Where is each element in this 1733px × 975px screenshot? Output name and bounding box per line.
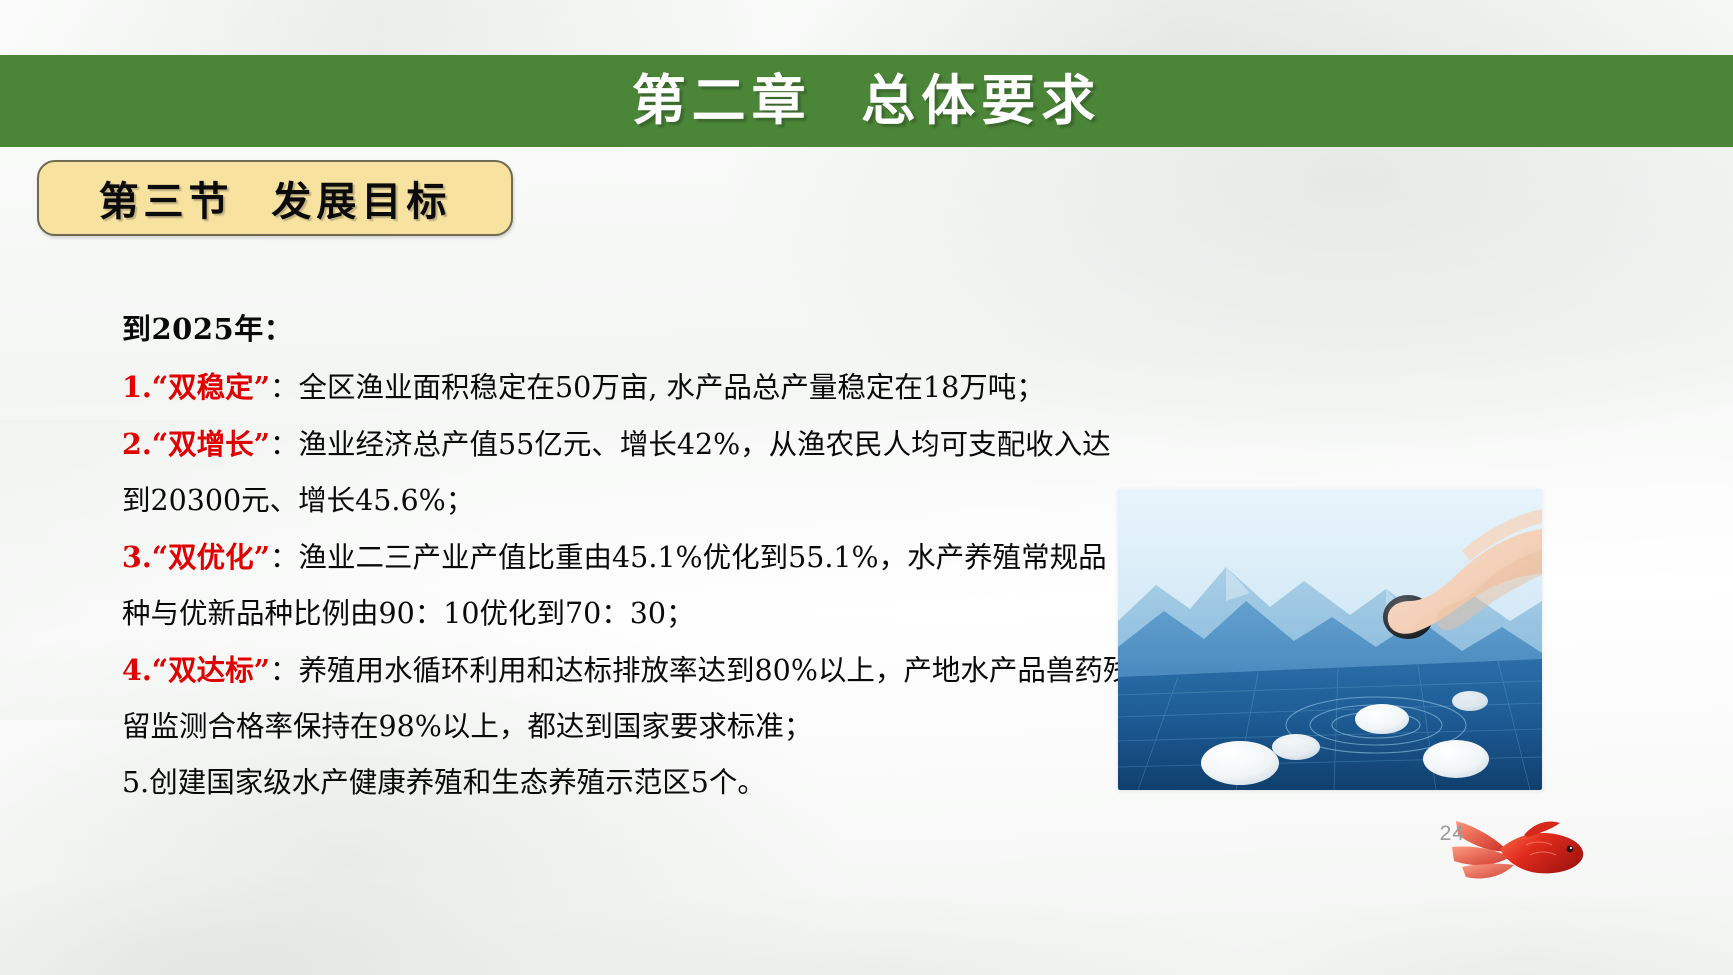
slide-canvas: 第二章 总体要求 第三节 发展目标 到2025年： 1.“双稳定”：全区渔业面积… [0,0,1733,975]
goal-item-2: 2.“双增长”：渔业经济总产值55亿元、增长42%，从渔农民人均可支配收入达到2… [122,416,1132,529]
section-title-chip: 第三节 发展目标 [37,160,513,236]
goal-item-3: 3.“双优化”：渔业二三产业产值比重由45.1%优化到55.1%，水产养殖常规品… [122,529,1132,642]
goal-item-1: 1.“双稳定”：全区渔业面积稳定在50万亩, 水产品总产量稳定在18万吨； [122,359,1132,416]
goal-item-2-text: ：渔业经济总产值55亿元、增长42%，从渔农民人均可支配收入达到20300元、增… [122,428,1111,517]
goal-item-3-text: ：渔业二三产业产值比重由45.1%优化到55.1%，水产养殖常规品种与优新品种比… [122,541,1107,630]
goal-item-5: 5.创建国家级水产健康养殖和生态养殖示范区5个。 [122,755,1132,811]
goal-item-5-tag: 5. [122,766,149,799]
goal-item-4-tag: 4.“双达标” [122,653,270,687]
goal-item-1-text: ：全区渔业面积稳定在50万亩, 水产品总产量稳定在18万吨； [270,371,1045,404]
goal-item-3-tag: 3.“双优化” [122,540,270,574]
red-fish-icon [1448,805,1588,897]
section-title-label: 第三节 发展目标 [99,169,452,227]
goal-item-4: 4.“双达标”：养殖用水循环利用和达标排放率达到80%以上，产地水产品兽药残留监… [122,642,1132,755]
goal-item-5-text: 创建国家级水产健康养殖和生态养殖示范区5个。 [149,766,766,799]
lead-line: 到2025年： [122,301,1132,357]
page-number: 24 [1440,822,1465,846]
page-title: 第二章 总体要求 [632,74,1102,128]
body-text-block: 到2025年： 1.“双稳定”：全区渔业面积稳定在50万亩, 水产品总产量稳定在… [122,272,1132,811]
illustration-image [1118,489,1542,790]
ink-wash-top [0,0,1733,56]
goal-item-2-tag: 2.“双增长” [122,427,270,461]
chapter-header-banner: 第二章 总体要求 [0,55,1733,147]
goal-item-4-text: ：养殖用水循环利用和达标排放率达到80%以上，产地水产品兽药残留监测合格率保持在… [122,654,1131,743]
goal-item-1-tag: 1.“双稳定” [122,370,270,404]
